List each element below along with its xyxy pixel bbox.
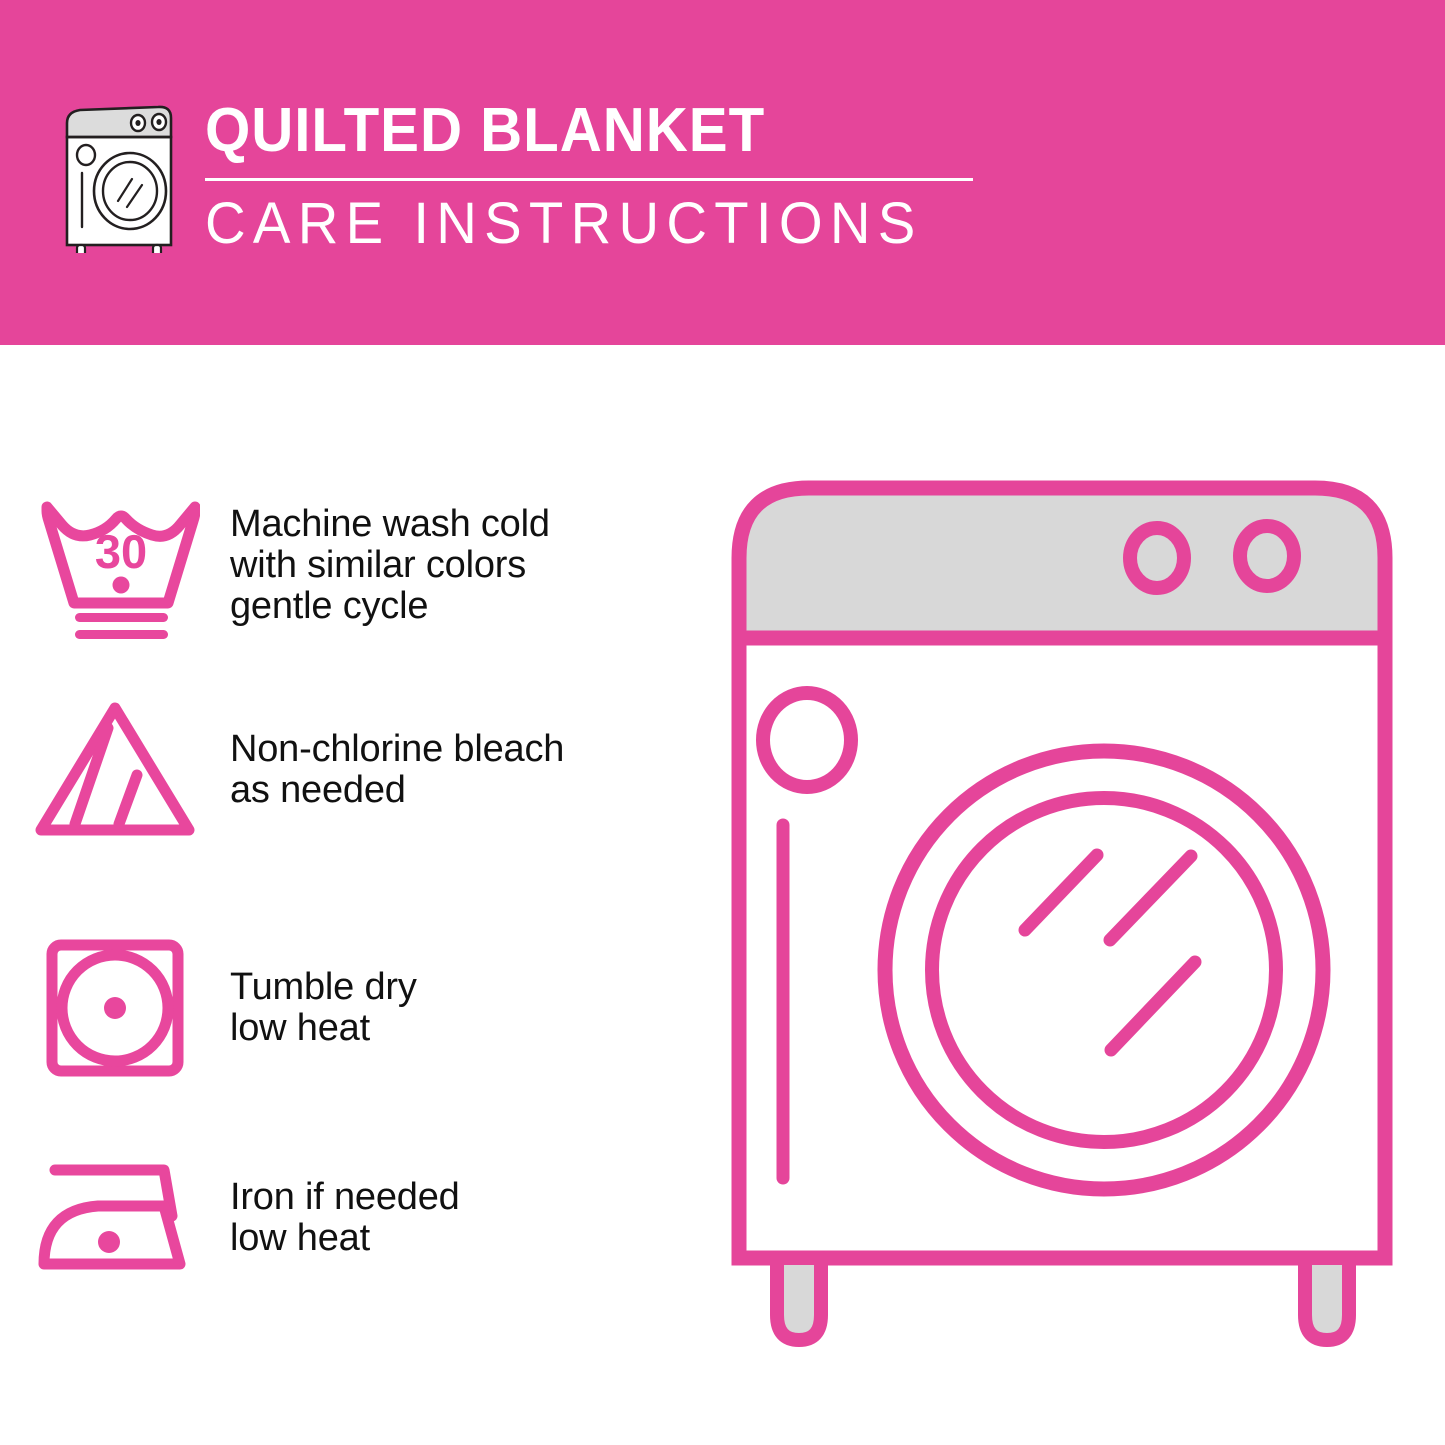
header-banner: QUILTED BLANKET CARE INSTRUCTIONS	[0, 0, 1445, 345]
leg-right	[1305, 1258, 1349, 1340]
label-line: Non-chlorine bleach	[230, 729, 564, 770]
label-line: as needed	[230, 770, 564, 811]
instruction-label-tumble-dry: Tumble dry low heat	[230, 967, 417, 1049]
leg-left	[777, 1258, 821, 1340]
instruction-row-bleach: Non-chlorine bleach as needed	[0, 680, 700, 860]
label-line: Iron if needed	[230, 1177, 460, 1218]
label-line: Machine wash cold	[230, 504, 550, 545]
wash-tub-30-gentle-icon: 30	[0, 485, 230, 645]
iron-low-heat-icon	[0, 1138, 230, 1298]
instruction-label-bleach: Non-chlorine bleach as needed	[230, 729, 564, 811]
label-line: low heat	[230, 1008, 417, 1049]
care-instructions-page: QUILTED BLANKET CARE INSTRUCTIONS 30	[0, 0, 1445, 1445]
title-divider	[205, 178, 973, 181]
page-subtitle: CARE INSTRUCTIONS	[205, 193, 981, 255]
instruction-label-wash: Machine wash cold with similar colors ge…	[230, 504, 550, 627]
label-line: gentle cycle	[230, 586, 550, 627]
instruction-row-wash: 30 Machine wash cold with similar colors…	[0, 475, 700, 655]
instruction-list: 30 Machine wash cold with similar colors…	[0, 345, 720, 1445]
wash-temperature-text: 30	[95, 525, 147, 578]
tumble-dry-low-icon	[0, 928, 230, 1088]
label-line: Tumble dry	[230, 967, 417, 1008]
large-washing-machine-illustration	[725, 470, 1415, 1370]
label-line: with similar colors	[230, 545, 550, 586]
instruction-row-iron: Iron if needed low heat	[0, 1130, 700, 1305]
washing-machine-icon	[58, 103, 188, 253]
non-chlorine-bleach-triangle-icon	[0, 690, 230, 850]
label-line: low heat	[230, 1218, 460, 1259]
instruction-row-tumble-dry: Tumble dry low heat	[0, 920, 700, 1095]
header-text-block: QUILTED BLANKET CARE INSTRUCTIONS	[205, 100, 1005, 255]
page-title: QUILTED BLANKET	[205, 100, 957, 162]
instruction-label-iron: Iron if needed low heat	[230, 1177, 460, 1259]
